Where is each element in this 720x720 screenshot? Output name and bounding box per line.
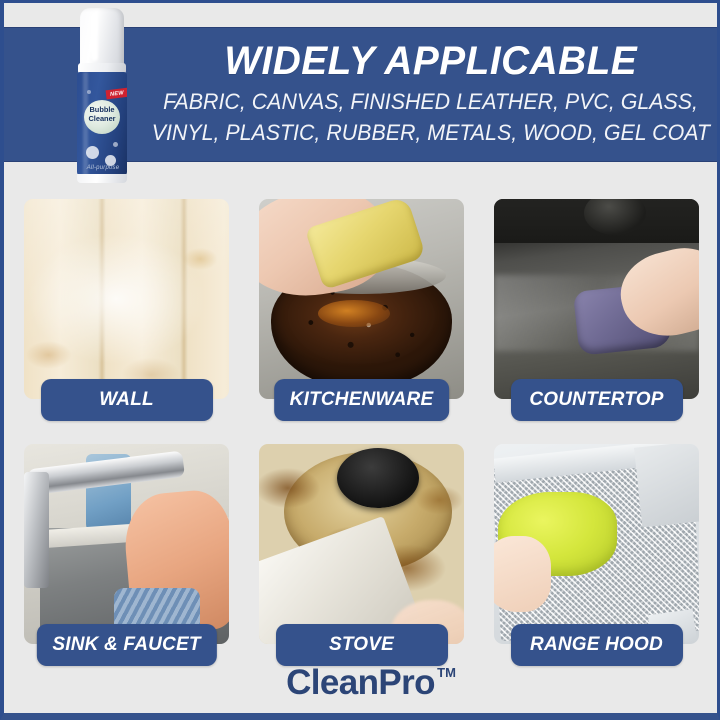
product-feature-poster: WIDELY APPLICABLE FABRIC, CANVAS, FINISH… <box>0 0 720 720</box>
grid-cell-kitchenware[interactable]: KITCHENWARE <box>259 199 464 399</box>
photo-wall <box>24 199 229 399</box>
new-flag-badge: NEW <box>106 88 127 100</box>
badge-wall[interactable]: WALL <box>41 379 213 421</box>
badge-sink-faucet[interactable]: SINK & FAUCET <box>36 624 216 666</box>
hand-shape <box>494 536 551 612</box>
bottle-subtitle: All-purpose <box>78 165 127 171</box>
grid-cell-stove[interactable]: STOVE <box>259 444 464 644</box>
bottle-brand-line-1: Bubble <box>89 105 114 114</box>
trademark-symbol: TM <box>437 665 456 680</box>
hood-surface-shape <box>634 444 699 527</box>
badge-countertop[interactable]: COUNTERTOP <box>511 379 683 421</box>
grid-cell-wall[interactable]: WALL <box>24 199 229 399</box>
badge-range-hood[interactable]: RANGE HOOD <box>511 624 683 666</box>
photo-sink-faucet <box>24 444 229 644</box>
grid-cell-countertop[interactable]: COUNTERTOP <box>494 199 699 399</box>
photo-countertop <box>494 199 699 399</box>
product-bottle-image: Bubble Cleaner NEW All-purpose <box>76 8 128 183</box>
brand-logo-text: CleanPro <box>286 663 435 702</box>
grid-cell-range-hood[interactable]: RANGE HOOD <box>494 444 699 644</box>
bubble-graphic <box>87 90 91 94</box>
bubble-graphic <box>113 142 118 147</box>
badge-stove[interactable]: STOVE <box>276 624 448 666</box>
bottle-base <box>77 174 127 183</box>
photo-stove <box>259 444 464 644</box>
bottle-brand-name: Bubble Cleaner <box>82 105 122 123</box>
cap-highlight <box>91 13 98 61</box>
materials-line-1: FABRIC, CANVAS, FINISHED LEATHER, PVC, G… <box>163 87 698 117</box>
faucet-column-shape <box>24 472 49 588</box>
photo-range-hood <box>494 444 699 644</box>
footer: CleanPro TM <box>4 659 717 707</box>
brand-logo: CleanPro TM <box>286 663 435 703</box>
header-text-block: WIDELY APPLICABLE FABRIC, CANVAS, FINISH… <box>154 31 707 157</box>
page-title: WIDELY APPLICABLE <box>224 40 637 82</box>
application-grid: WALL KITCHENWARE <box>24 199 704 644</box>
photo-kitchenware <box>259 199 464 399</box>
bubble-graphic <box>86 146 99 159</box>
materials-line-2: VINYL, PLASTIC, RUBBER, METALS, WOOD, GE… <box>151 118 709 148</box>
badge-kitchenware[interactable]: KITCHENWARE <box>274 379 450 421</box>
bottle-brand-line-2: Cleaner <box>88 114 115 123</box>
bottle-body-label: Bubble Cleaner NEW All-purpose <box>77 72 127 176</box>
grid-cell-sink-faucet[interactable]: SINK & FAUCET <box>24 444 229 644</box>
